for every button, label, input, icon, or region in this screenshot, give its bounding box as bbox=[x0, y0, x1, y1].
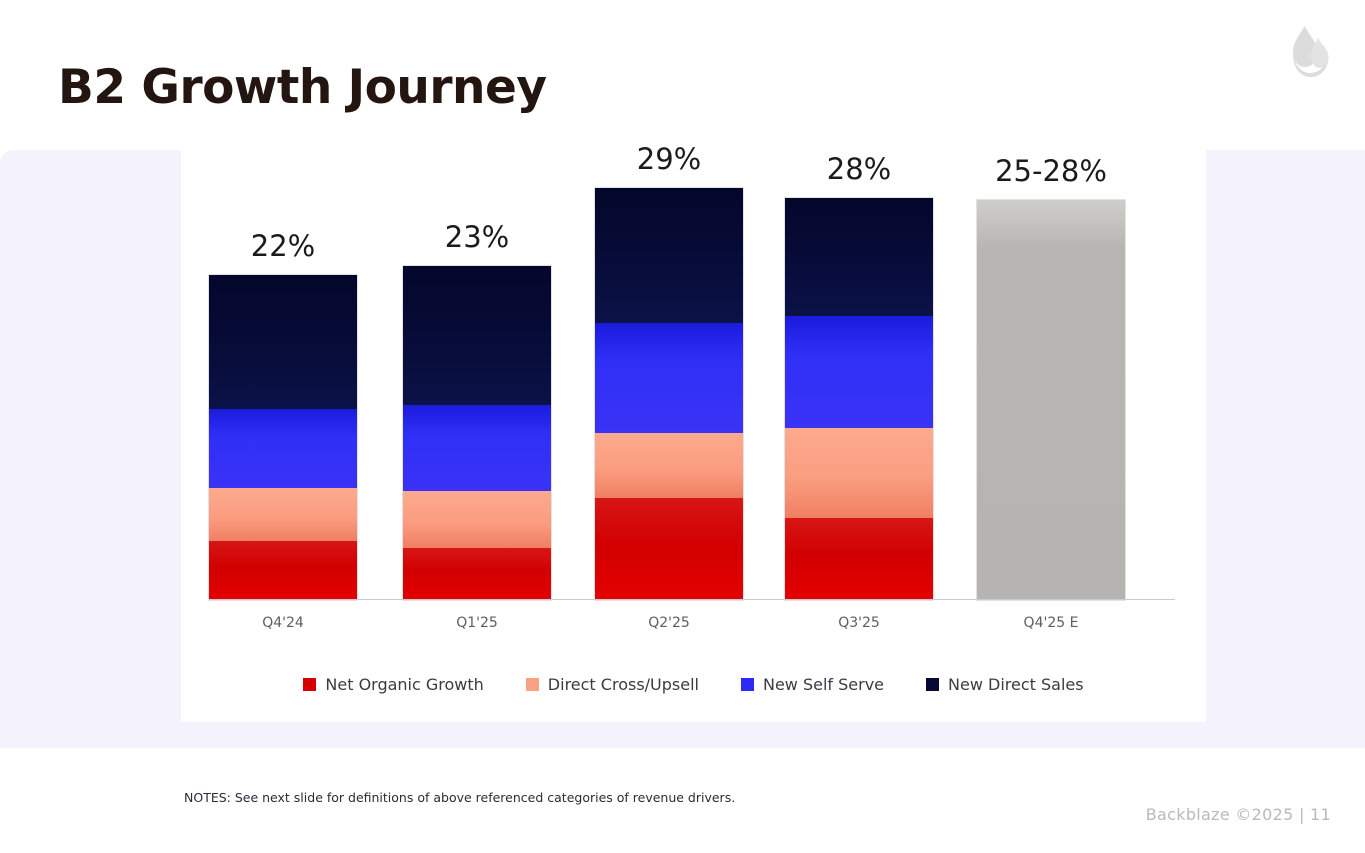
segment-net-organic-growth bbox=[595, 498, 743, 600]
legend-item-net-organic-growth[interactable]: Net Organic Growth bbox=[303, 675, 483, 694]
slide-footer: Backblaze ©2025 | 11 bbox=[1146, 805, 1331, 824]
segment-net-organic-growth bbox=[209, 541, 357, 600]
segment-new-direct-sales bbox=[595, 188, 743, 323]
legend-label: New Direct Sales bbox=[948, 675, 1084, 694]
legend-swatch-icon bbox=[303, 678, 316, 691]
legend-swatch-icon bbox=[741, 678, 754, 691]
legend-item-direct-cross-upsell[interactable]: Direct Cross/Upsell bbox=[526, 675, 699, 694]
segment-direct-cross-upsell bbox=[595, 433, 743, 498]
segment-net-organic-growth bbox=[785, 518, 933, 600]
bar-total-label: 28% bbox=[827, 152, 891, 186]
bar-stack[interactable]: 28% bbox=[785, 198, 933, 600]
segment-new-direct-sales bbox=[403, 266, 551, 405]
legend-item-new-self-serve[interactable]: New Self Serve bbox=[741, 675, 884, 694]
segment-new-self-serve bbox=[595, 323, 743, 433]
x-tick-label-q3-25: Q3'25 bbox=[769, 615, 949, 631]
segment-net-organic-growth bbox=[403, 548, 551, 600]
chart-panel: 22% 23% 29% bbox=[0, 150, 1365, 748]
bar-total-label: 29% bbox=[637, 142, 701, 176]
slide-notes: NOTES: See next slide for definitions of… bbox=[184, 790, 735, 805]
legend-label: Direct Cross/Upsell bbox=[548, 675, 699, 694]
legend-item-new-direct-sales[interactable]: New Direct Sales bbox=[926, 675, 1084, 694]
segment-new-self-serve bbox=[785, 316, 933, 428]
x-tick-label-q4-24: Q4'24 bbox=[193, 615, 373, 631]
legend-swatch-icon bbox=[526, 678, 539, 691]
segment-new-direct-sales bbox=[209, 275, 357, 409]
backblaze-flame-logo bbox=[1287, 24, 1331, 80]
bar-group-q4-24[interactable]: 22% bbox=[209, 275, 357, 600]
bar-total-label: 23% bbox=[445, 220, 509, 254]
bar-stack[interactable]: 29% bbox=[595, 188, 743, 600]
bar-group-q1-25[interactable]: 23% bbox=[403, 266, 551, 600]
segment-estimate bbox=[977, 200, 1125, 600]
segment-new-direct-sales bbox=[785, 198, 933, 316]
x-tick-label-q2-25: Q2'25 bbox=[579, 615, 759, 631]
segment-direct-cross-upsell bbox=[403, 491, 551, 548]
bar-group-q3-25[interactable]: 28% bbox=[785, 198, 933, 600]
bar-group-q4-25-estimate[interactable]: 25-28% bbox=[977, 200, 1125, 600]
bar-total-label: 25-28% bbox=[995, 154, 1107, 188]
bar-group-q2-25[interactable]: 29% bbox=[595, 188, 743, 600]
x-tick-label-q4-25-est: Q4'25 E bbox=[961, 615, 1141, 631]
legend-swatch-icon bbox=[926, 678, 939, 691]
bar-stack[interactable]: 25-28% bbox=[977, 200, 1125, 600]
segment-new-self-serve bbox=[209, 409, 357, 488]
segment-new-self-serve bbox=[403, 405, 551, 491]
bar-stack[interactable]: 23% bbox=[403, 266, 551, 600]
chart-legend: Net Organic Growth Direct Cross/Upsell N… bbox=[181, 675, 1206, 694]
bar-stack[interactable]: 22% bbox=[209, 275, 357, 600]
chart-card: 22% 23% 29% bbox=[181, 150, 1206, 722]
x-tick-label-q1-25: Q1'25 bbox=[387, 615, 567, 631]
plot-area: 22% 23% 29% bbox=[181, 150, 1206, 650]
bar-total-label: 22% bbox=[251, 229, 315, 263]
legend-label: New Self Serve bbox=[763, 675, 884, 694]
segment-direct-cross-upsell bbox=[785, 428, 933, 518]
legend-label: Net Organic Growth bbox=[325, 675, 483, 694]
x-axis-line bbox=[209, 599, 1175, 600]
segment-direct-cross-upsell bbox=[209, 488, 357, 541]
page-title: B2 Growth Journey bbox=[58, 60, 547, 115]
